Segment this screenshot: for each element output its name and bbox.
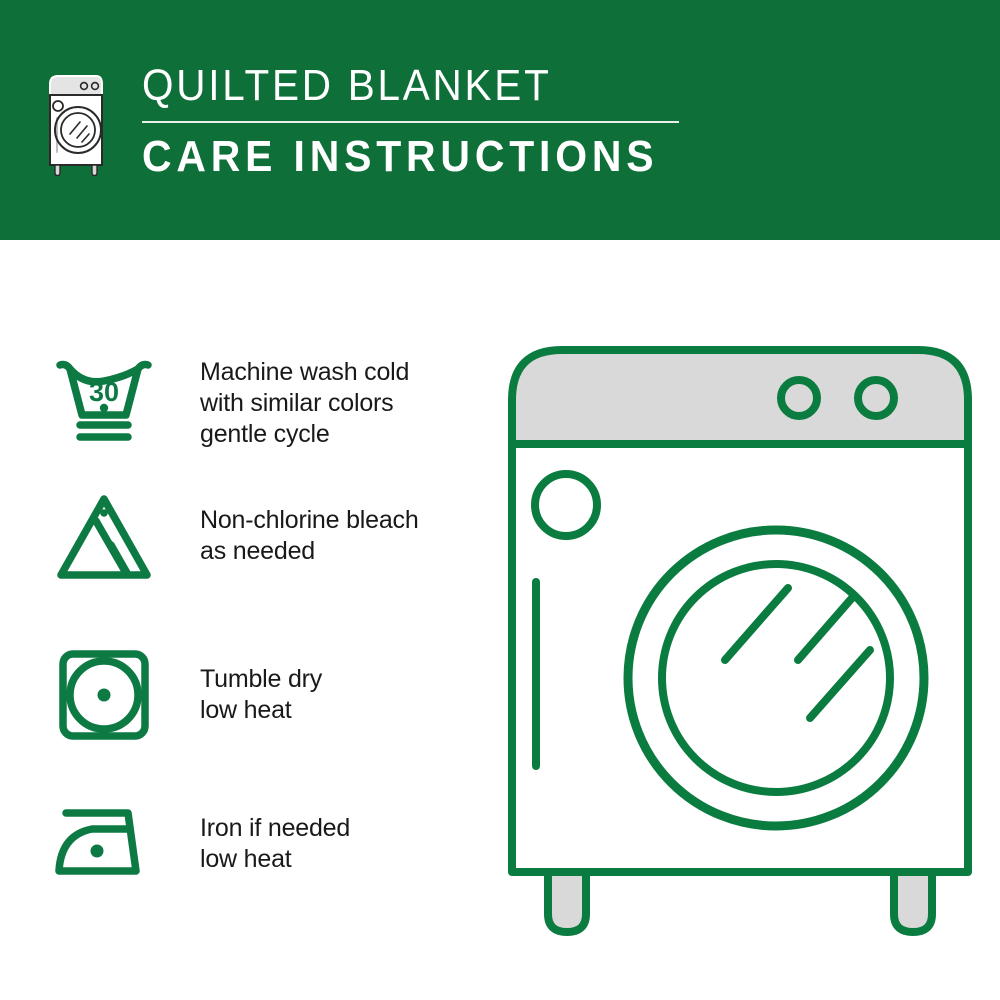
care-item-text: Machine wash cold with similar colors ge… — [200, 351, 409, 450]
header-banner: QUILTED BLANKET CARE INSTRUCTIONS — [0, 0, 1000, 240]
machine-wash-30-gentle-icon: 30 — [50, 351, 158, 451]
wash-temperature-value: 30 — [89, 377, 119, 407]
non-chlorine-bleach-icon — [50, 487, 158, 587]
tumble-dry-low-heat-icon — [50, 644, 158, 744]
care-item-bleach: Non-chlorine bleach as needed — [50, 487, 480, 587]
page-title: QUILTED BLANKET — [142, 64, 653, 108]
care-item-text: Tumble dry low heat — [200, 644, 322, 726]
control-panel — [512, 350, 968, 444]
page-subtitle: CARE INSTRUCTIONS — [142, 135, 658, 179]
iron-low-heat-icon — [50, 793, 158, 893]
header-title-block: QUILTED BLANKET CARE INSTRUCTIONS — [142, 62, 697, 179]
care-item-machine-wash: 30 Machine wash cold with similar colors… — [50, 351, 480, 451]
title-divider — [142, 121, 679, 123]
header-content: QUILTED BLANKET CARE INSTRUCTIONS — [44, 62, 697, 179]
leg-right — [894, 872, 932, 932]
leg-left — [548, 872, 586, 932]
washing-machine-icon — [44, 68, 106, 178]
washing-machine-illustration — [480, 320, 1000, 940]
care-item-text: Iron if needed low heat — [200, 793, 350, 875]
care-item-tumble-dry: Tumble dry low heat — [50, 644, 480, 744]
care-instructions-list: 30 Machine wash cold with similar colors… — [0, 240, 480, 1000]
machine-body — [512, 444, 968, 872]
care-instructions-page: QUILTED BLANKET CARE INSTRUCTIONS 30 — [0, 0, 1000, 1000]
care-item-text: Non-chlorine bleach as needed — [200, 487, 419, 567]
care-item-iron: Iron if needed low heat — [50, 793, 480, 893]
